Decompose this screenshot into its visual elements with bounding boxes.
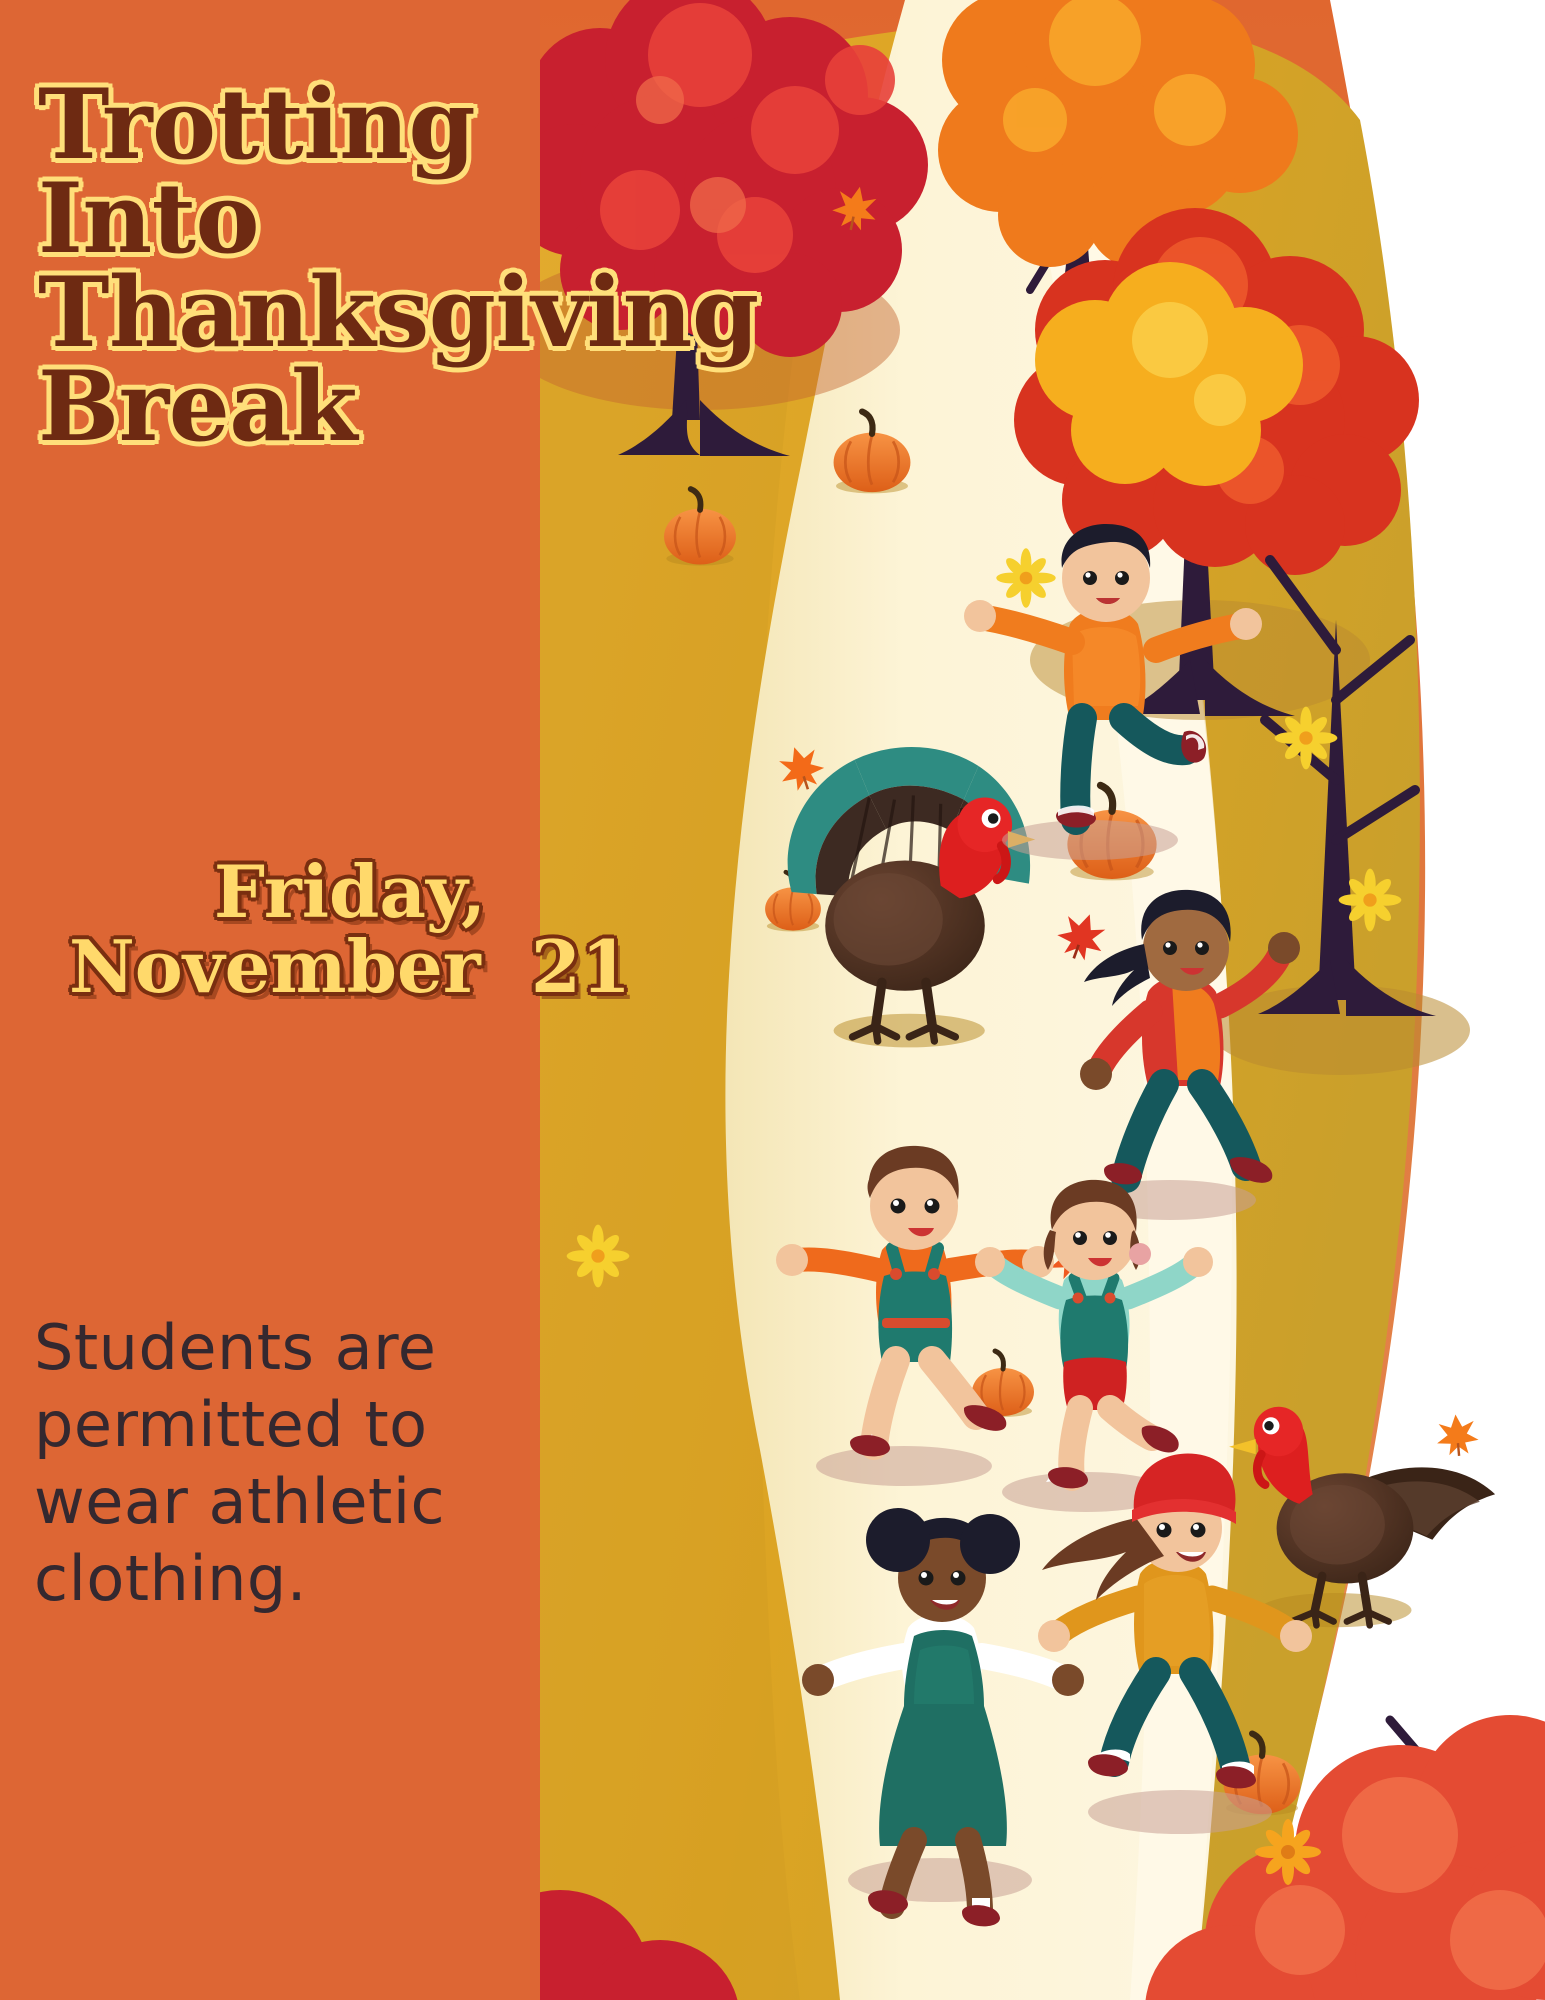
body-message: Students are permitted to wear athletic … — [34, 1310, 594, 1618]
date-line-1: Friday, — [0, 855, 700, 930]
body-line-4: clothing. — [34, 1541, 594, 1618]
headline-line-4: Break — [38, 360, 938, 454]
headline-line-3: Thanksgiving — [38, 266, 938, 360]
afro-puff — [866, 1508, 930, 1572]
page-title: Trotting Into Thanksgiving Break — [38, 78, 938, 454]
date-line-2: November 21 — [0, 930, 700, 1005]
poster: Trotting Into Thanksgiving Break Friday,… — [0, 0, 1545, 2000]
headline-line-2: Into — [38, 172, 938, 266]
afro-puff — [960, 1514, 1020, 1574]
body-line-2: permitted to — [34, 1387, 594, 1464]
body-line-3: wear athletic — [34, 1464, 594, 1541]
body-line-1: Students are — [34, 1310, 594, 1387]
headline-line-1: Trotting — [38, 78, 938, 172]
event-date: Friday, November 21 — [0, 855, 700, 1005]
